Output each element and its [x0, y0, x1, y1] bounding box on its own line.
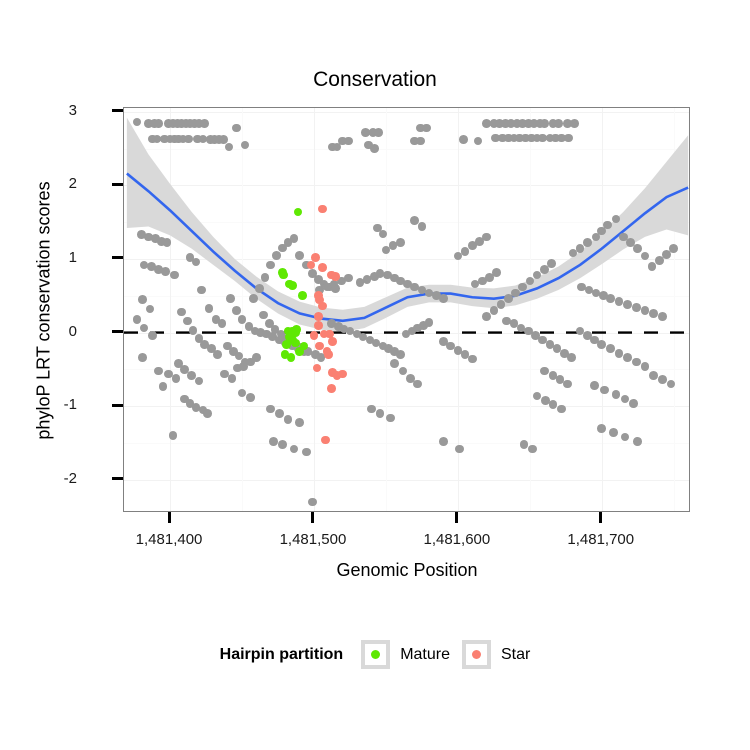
data-point-other — [140, 324, 149, 333]
data-point-other — [148, 331, 157, 340]
data-point-other — [632, 358, 641, 367]
data-point-mature — [298, 291, 307, 300]
data-point-other — [169, 431, 178, 440]
y-tick — [112, 256, 123, 259]
data-point-other — [633, 244, 642, 253]
data-point-other — [259, 311, 268, 320]
plot-panel — [123, 107, 690, 512]
data-point-other — [615, 349, 624, 358]
data-point-mature — [279, 271, 288, 280]
data-point-other — [302, 448, 311, 457]
data-point-other — [218, 319, 227, 328]
data-point-other — [154, 367, 163, 376]
y-tick-label: -1 — [37, 396, 77, 413]
star-dot-icon — [472, 650, 481, 659]
data-point-other — [455, 445, 464, 454]
data-point-other — [177, 308, 186, 317]
x-tick-label: 1,481,700 — [536, 531, 666, 548]
data-point-other — [597, 340, 606, 349]
data-point-other — [266, 405, 275, 414]
data-point-other — [278, 440, 287, 449]
data-point-other — [172, 374, 181, 383]
data-point-other — [549, 400, 558, 409]
legend: Hairpin partition Mature Star — [0, 640, 750, 669]
data-point-other — [567, 353, 576, 362]
data-point-other — [266, 261, 275, 270]
data-point-other — [379, 230, 388, 239]
data-point-other — [590, 381, 599, 390]
x-tick-label: 1,481,400 — [104, 531, 234, 548]
data-point-other — [192, 258, 201, 267]
x-axis-title: Genomic Position — [123, 560, 691, 581]
data-point-other — [390, 359, 399, 368]
y-tick-label: 0 — [37, 323, 77, 340]
data-point-mature — [292, 325, 301, 334]
page-title: Conservation — [0, 68, 750, 92]
data-point-other — [284, 415, 293, 424]
data-point-other — [170, 271, 179, 280]
data-point-other — [154, 119, 163, 128]
data-point-other — [138, 353, 147, 362]
data-point-mature — [287, 353, 296, 362]
data-point-other — [563, 380, 572, 389]
data-point-other — [226, 294, 235, 303]
data-point-other — [540, 367, 549, 376]
data-point-other — [295, 251, 304, 260]
data-point-other — [200, 119, 209, 128]
data-point-other — [344, 137, 353, 146]
legend-key-star — [462, 640, 491, 669]
data-point-mature — [291, 339, 300, 348]
data-point-other — [497, 300, 506, 309]
data-point-other — [615, 297, 624, 306]
data-point-mature — [288, 281, 297, 290]
data-point-star — [318, 205, 327, 214]
data-point-other — [225, 143, 234, 152]
data-point-other — [482, 312, 491, 321]
y-tick — [112, 404, 123, 407]
data-point-other — [490, 306, 499, 315]
y-tick-label: -2 — [37, 470, 77, 487]
data-point-other — [439, 437, 448, 446]
data-point-star — [321, 436, 330, 445]
x-tick — [311, 512, 314, 523]
data-point-other — [554, 119, 563, 128]
data-point-other — [197, 286, 206, 295]
data-point-other — [246, 393, 255, 402]
data-point-star — [314, 312, 323, 321]
data-point-star — [324, 350, 333, 359]
y-tick-label: 2 — [37, 175, 77, 192]
data-point-other — [612, 390, 621, 399]
data-point-other — [461, 247, 470, 256]
data-point-other — [249, 294, 258, 303]
data-point-other — [133, 315, 142, 324]
data-point-other — [649, 371, 658, 380]
data-point-other — [241, 141, 250, 150]
data-point-other — [213, 350, 222, 359]
mature-dot-icon — [371, 650, 380, 659]
data-point-other — [396, 350, 405, 359]
data-point-star — [313, 364, 322, 373]
scatter-points — [124, 108, 689, 511]
data-point-other — [413, 380, 422, 389]
data-point-other — [376, 409, 385, 418]
data-point-other — [518, 283, 527, 292]
data-point-star — [327, 384, 336, 393]
data-point-other — [600, 386, 609, 395]
data-point-other — [370, 144, 379, 153]
data-point-other — [238, 389, 247, 398]
data-point-other — [641, 362, 650, 371]
data-point-other — [606, 344, 615, 353]
data-point-star — [318, 302, 327, 311]
data-point-other — [396, 238, 405, 247]
y-tick — [112, 109, 123, 112]
legend-item-mature[interactable]: Mature — [361, 640, 450, 669]
data-point-other — [633, 437, 642, 446]
data-point-other — [163, 238, 172, 247]
data-point-other — [623, 353, 632, 362]
data-point-other — [189, 326, 198, 335]
data-point-other — [557, 405, 566, 414]
data-point-other — [146, 305, 155, 314]
data-point-other — [374, 128, 383, 137]
data-point-star — [338, 370, 347, 379]
data-point-other — [669, 244, 678, 253]
legend-title: Hairpin partition — [220, 646, 344, 664]
data-point-other — [367, 405, 376, 414]
x-tick — [599, 512, 602, 523]
data-point-other — [658, 312, 667, 321]
data-point-other — [641, 252, 650, 261]
data-point-star — [331, 272, 340, 281]
data-point-other — [290, 234, 299, 243]
data-point-other — [621, 433, 630, 442]
data-point-other — [272, 251, 281, 260]
data-point-other — [533, 392, 542, 401]
data-point-other — [275, 409, 284, 418]
data-point-other — [474, 137, 483, 146]
data-point-other — [583, 238, 592, 247]
data-point-other — [228, 374, 237, 383]
data-point-other — [333, 143, 342, 152]
data-point-other — [422, 124, 431, 133]
x-tick-label: 1,481,500 — [248, 531, 378, 548]
x-tick-label: 1,481,600 — [392, 531, 522, 548]
data-point-star — [307, 261, 316, 270]
data-point-other — [658, 375, 667, 384]
data-point-other — [540, 119, 549, 128]
data-point-star — [318, 263, 327, 272]
data-point-other — [399, 367, 408, 376]
data-point-other — [133, 118, 142, 127]
data-point-other — [528, 445, 537, 454]
data-point-mature — [295, 347, 304, 356]
data-point-other — [418, 222, 427, 231]
data-point-other — [564, 134, 573, 143]
data-point-other — [547, 259, 556, 268]
data-point-other — [439, 294, 448, 303]
data-point-other — [261, 273, 270, 282]
data-point-other — [308, 498, 317, 507]
data-point-other — [203, 409, 212, 418]
data-point-other — [597, 424, 606, 433]
data-point-star — [310, 331, 319, 340]
data-point-other — [183, 317, 192, 326]
data-point-other — [667, 380, 676, 389]
legend-key-mature — [361, 640, 390, 669]
y-tick-label: 1 — [37, 249, 77, 266]
data-point-other — [649, 309, 658, 318]
data-point-other — [482, 233, 491, 242]
x-tick — [168, 512, 171, 523]
data-point-other — [344, 274, 353, 283]
y-tick — [112, 477, 123, 480]
y-tick — [112, 183, 123, 186]
data-point-other — [386, 414, 395, 423]
data-point-other — [609, 428, 618, 437]
data-point-other — [526, 277, 535, 286]
legend-label-star: Star — [501, 646, 530, 664]
x-tick — [455, 512, 458, 523]
data-point-other — [252, 353, 261, 362]
y-tick-label: 3 — [37, 102, 77, 119]
data-point-other — [623, 300, 632, 309]
data-point-star — [314, 321, 323, 330]
data-point-other — [459, 135, 468, 144]
data-point-star — [328, 337, 337, 346]
data-point-other — [138, 295, 147, 304]
data-point-other — [570, 119, 579, 128]
y-tick — [112, 330, 123, 333]
data-point-other — [468, 355, 477, 364]
legend-item-star[interactable]: Star — [462, 640, 530, 669]
data-point-other — [195, 377, 204, 386]
data-point-other — [232, 124, 241, 133]
data-point-other — [612, 215, 621, 224]
data-point-mature — [294, 208, 303, 217]
data-point-other — [159, 382, 168, 391]
data-point-mature — [282, 340, 291, 349]
data-point-other — [205, 304, 214, 313]
data-point-other — [238, 315, 247, 324]
data-point-other — [161, 267, 170, 276]
data-point-other — [606, 294, 615, 303]
data-point-other — [632, 303, 641, 312]
data-point-other — [255, 284, 264, 293]
legend-label-mature: Mature — [400, 646, 450, 664]
data-point-other — [425, 318, 434, 327]
data-point-other — [641, 306, 650, 315]
data-point-other — [492, 268, 501, 277]
data-point-other — [629, 399, 638, 408]
data-point-other — [290, 445, 299, 454]
data-point-other — [621, 395, 630, 404]
data-point-other — [416, 137, 425, 146]
data-point-other — [603, 221, 612, 230]
data-point-other — [232, 306, 241, 315]
data-point-other — [269, 437, 278, 446]
data-point-other — [520, 440, 529, 449]
data-point-other — [184, 135, 193, 144]
data-point-other — [295, 418, 304, 427]
